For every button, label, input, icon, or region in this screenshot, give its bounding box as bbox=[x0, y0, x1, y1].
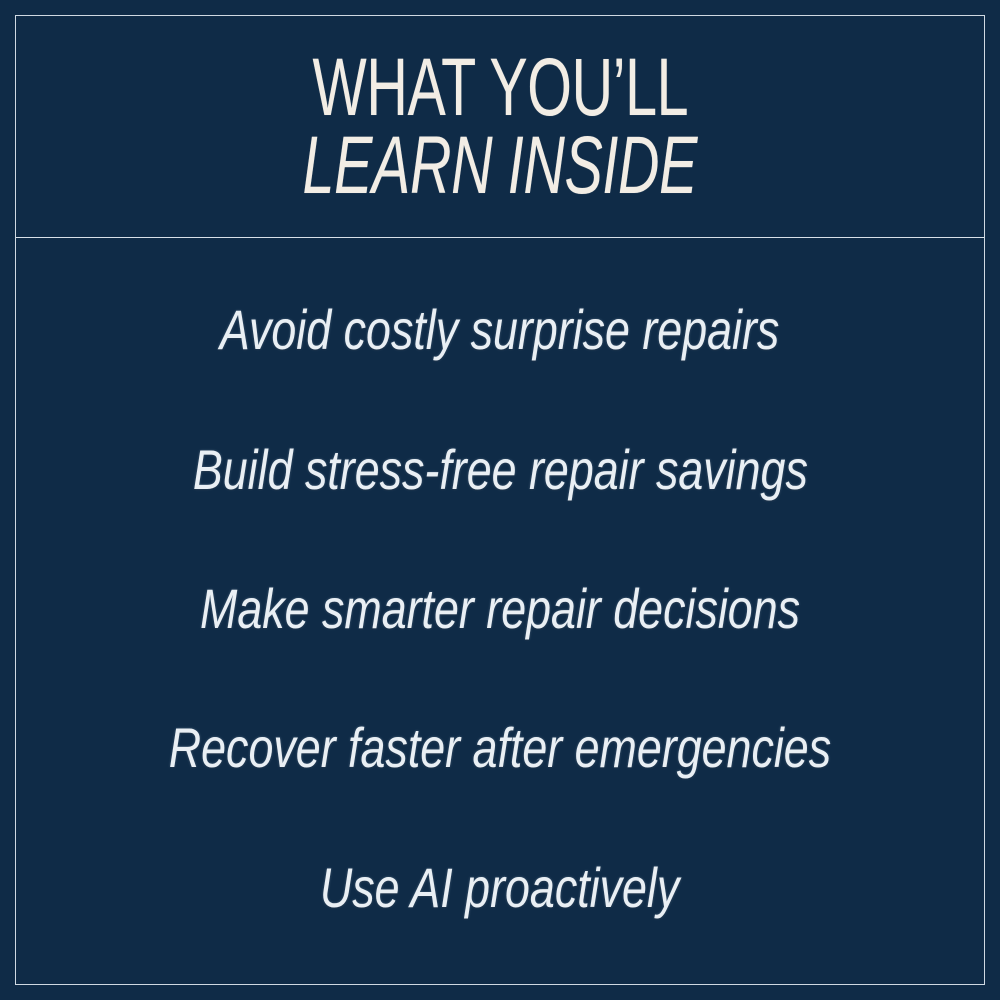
list-item: Use AI proactively bbox=[320, 859, 679, 918]
list-item: Build stress-free repair savings bbox=[193, 441, 808, 500]
benefits-list: Avoid costly surprise repairs Build stre… bbox=[16, 239, 984, 984]
headline-line-2: LEARN INSIDE bbox=[303, 128, 698, 204]
header-divider bbox=[16, 237, 984, 238]
list-item: Avoid costly surprise repairs bbox=[220, 301, 779, 360]
list-item: Recover faster after emergencies bbox=[169, 719, 831, 778]
headline-line-1: WHAT YOU’LL bbox=[312, 50, 688, 126]
list-item: Make smarter repair decisions bbox=[200, 580, 800, 639]
header-band: WHAT YOU’LL LEARN INSIDE bbox=[16, 16, 984, 238]
slide-card: WHAT YOU’LL LEARN INSIDE Avoid costly su… bbox=[0, 0, 1000, 1000]
